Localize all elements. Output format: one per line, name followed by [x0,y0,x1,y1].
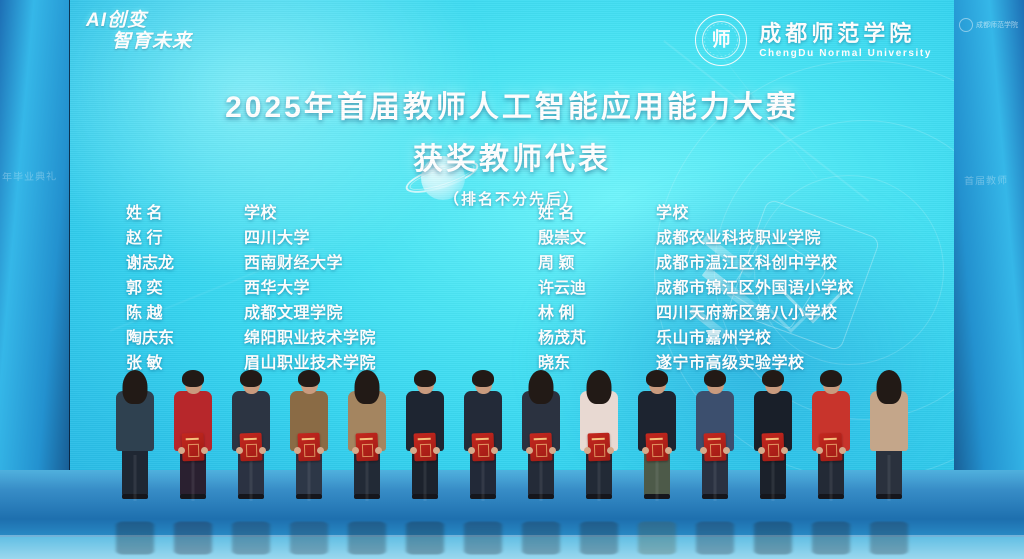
university-seal-icon: 师 [695,14,747,66]
award-row: 张 敏 眉山职业技术学院 [126,356,486,381]
award-name: 杨茂芃 [538,331,656,347]
award-name: 晓东 [538,356,656,372]
stage-floor [0,470,1024,559]
award-school: 眉山职业技术学院 [244,356,376,372]
mini-logo-text: 成都师范学院 [976,20,1018,30]
award-name: 陈 越 [126,306,244,322]
award-school: 绵阳职业技术学院 [244,331,376,347]
right-wing-faint-text: 首届教师 [964,172,1008,188]
award-name: 郭 奕 [126,281,244,297]
award-row: 陶庆东 绵阳职业技术学院 [126,331,486,356]
led-screen: AI创变 智育未来 师 成都师范学院 ChengDu Normal Univer… [70,0,954,470]
slogan-line-1: AI创变 [86,10,192,31]
university-name-en: ChengDu Normal University [759,48,932,60]
slide-title-main: 2025年首届教师人工智能应用能力大赛 [70,82,954,126]
award-name: 陶庆东 [126,331,244,347]
award-school: 西华大学 [244,281,310,297]
award-row: 林 俐 四川天府新区第八小学校 [538,306,898,331]
right-wing-mini-logo: 成都师范学院 [959,18,1018,32]
stage-apron [0,537,1024,559]
award-row: 陈 越 成都文理学院 [126,306,486,331]
award-school: 四川天府新区第八小学校 [656,306,838,322]
award-list-left-column: 姓 名 学校 赵 行 四川大学 谢志龙 西南财经大学 郭 奕 西华大学 陈 越 [126,206,486,406]
award-school: 成都市温江区科创中学校 [656,256,838,272]
award-row: 殷崇文 成都农业科技职业学院 [538,231,898,256]
led-wall-left-wing: 年毕业典礼 [0,0,72,470]
award-list: 姓 名 学校 赵 行 四川大学 谢志龙 西南财经大学 郭 奕 西华大学 陈 越 [70,206,954,406]
header-name-right: 姓 名 [538,206,656,222]
seal-glyph: 师 [712,31,731,50]
award-name: 谢志龙 [126,256,244,272]
award-row: 赵 行 四川大学 [126,231,486,256]
award-school: 西南财经大学 [244,256,343,272]
award-list-right-column: 姓 名 学校 殷崇文 成都农业科技职业学院 周 颖 成都市温江区科创中学校 许云… [538,206,898,406]
header-school-right: 学校 [656,206,689,222]
award-school: 乐山市嘉州学校 [656,331,772,347]
award-row: 郭 奕 西华大学 [126,281,486,306]
event-slogan-logo: AI创变 智育未来 [86,10,192,53]
award-name: 张 敏 [126,356,244,372]
award-school: 四川大学 [244,231,310,247]
university-name-cn: 成都师范学院 [759,21,932,46]
slide-title-block: 2025年首届教师人工智能应用能力大赛 获奖教师代表 （排名不分先后） [70,82,954,209]
award-school: 遂宁市高级实验学校 [656,356,805,372]
award-row: 谢志龙 西南财经大学 [126,256,486,281]
award-name: 许云迪 [538,281,656,297]
award-row: 罗 [126,381,486,406]
award-name: 殷崇文 [538,231,656,247]
award-list-header-left: 姓 名 学校 [126,206,486,231]
mini-seal-icon [959,18,973,32]
header-school-left: 学校 [244,206,277,222]
left-wing-faint-text: 年毕业典礼 [2,168,57,184]
award-name: 林 俐 [538,306,656,322]
award-school: 成都农业科技职业学院 [656,231,821,247]
award-name: 赵 行 [126,231,244,247]
award-row: 晓东 遂宁市高级实验学校 [538,356,898,381]
award-row: 杨茂芃 乐山市嘉州学校 [538,331,898,356]
stage-photo: 年毕业典礼 成都师范学院 首届教师 [0,0,1024,559]
slogan-line-2: 智育未来 [86,31,192,52]
header-name-left: 姓 名 [126,206,244,222]
university-logo: 师 成都师范学院 ChengDu Normal University [695,14,932,66]
slide-title-sub: 获奖教师代表 [70,134,954,178]
award-row: 周 颖 成都市温江区科创中学校 [538,256,898,281]
university-name-block: 成都师范学院 ChengDu Normal University [759,21,932,60]
award-name: 周 颖 [538,256,656,272]
award-name: 罗 [126,381,244,397]
award-row: 许云迪 成都市锦江区外国语小学校 [538,281,898,306]
award-school: 成都市锦江区外国语小学校 [656,281,854,297]
led-wall-right-wing: 成都师范学院 首届教师 [950,0,1024,470]
award-list-header-right: 姓 名 学校 [538,206,898,231]
floor-reflection-sheen [0,470,1024,520]
award-school: 成都文理学院 [244,306,343,322]
